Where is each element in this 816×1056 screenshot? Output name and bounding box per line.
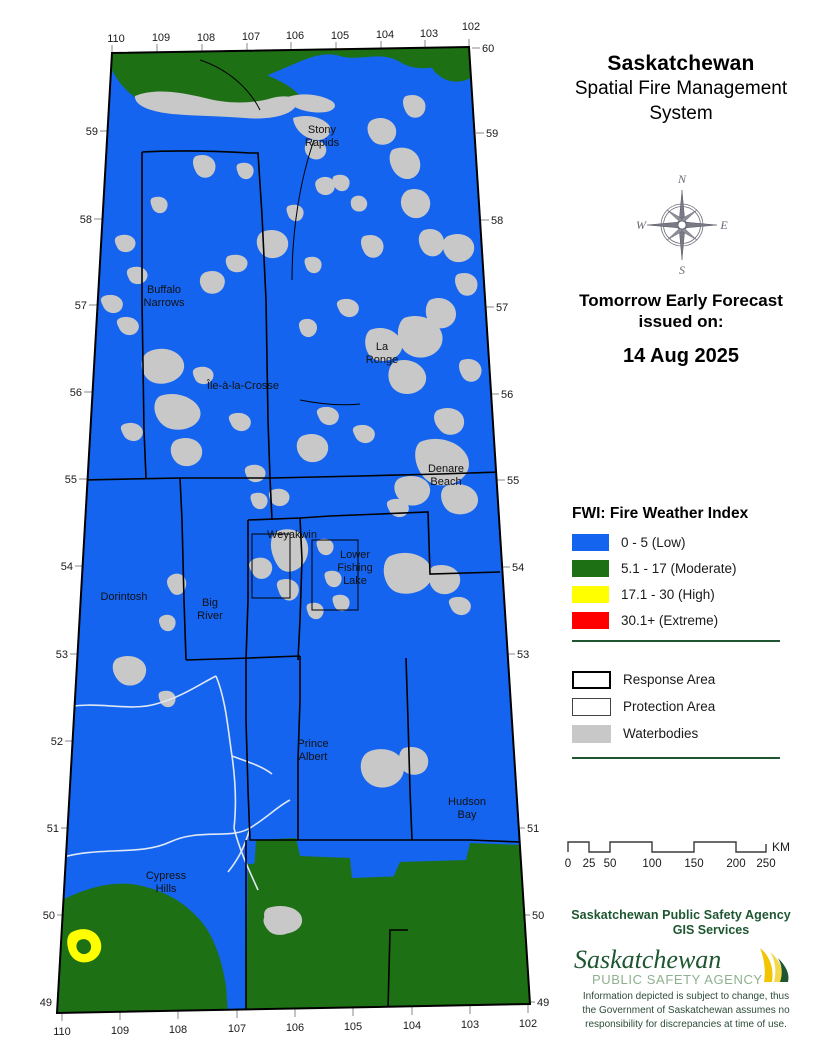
svg-text:103: 103 <box>461 1019 479 1031</box>
svg-text:Lake: Lake <box>343 575 367 587</box>
svg-text:59: 59 <box>486 128 498 140</box>
svg-text:104: 104 <box>376 29 394 41</box>
svg-text:56: 56 <box>501 389 513 401</box>
compass-east-label: E <box>719 218 728 232</box>
svg-text:58: 58 <box>80 214 92 226</box>
map-page: Stony Rapids Buffalo Narrows La Ronge Îl… <box>0 0 816 1056</box>
svg-text:River: River <box>197 610 223 622</box>
waterbodies-label: Waterbodies <box>623 726 698 741</box>
svg-text:103: 103 <box>420 28 438 40</box>
svg-text:Île-à-la-Crosse: Île-à-la-Crosse <box>206 379 279 392</box>
svg-text:104: 104 <box>403 1020 421 1032</box>
longitude-labels-top: 110 109 108 107 106 105 104 103 102 <box>107 21 480 45</box>
svg-text:57: 57 <box>496 302 508 314</box>
page-subtitle-line2: System <box>546 103 816 125</box>
svg-text:54: 54 <box>512 562 524 574</box>
svg-text:55: 55 <box>65 474 77 486</box>
logo-wheat-mark <box>760 948 789 982</box>
agency-name: Saskatchewan Public Safety Agency <box>546 908 816 922</box>
svg-text:108: 108 <box>197 32 215 44</box>
svg-text:56: 56 <box>70 387 82 399</box>
protection-area-label: Protection Area <box>623 699 715 714</box>
svg-text:Big: Big <box>202 597 218 609</box>
compass-south-label: S <box>679 263 685 277</box>
svg-text:Fishing: Fishing <box>337 562 372 574</box>
fwi-swatch-low <box>572 534 609 551</box>
scale-tick-250: 250 <box>756 858 775 870</box>
agency-credit: Saskatchewan Public Safety Agency GIS Se… <box>546 908 816 937</box>
map-canvas[interactable]: Stony Rapids Buffalo Narrows La Ronge Îl… <box>0 0 560 1056</box>
svg-text:54: 54 <box>61 561 73 573</box>
area-legend-item-waterbodies: Waterbodies <box>572 720 816 747</box>
map-legend-panel: Saskatchewan Spatial Fire Management Sys… <box>546 0 816 1056</box>
fwi-legend-item-low: 0 - 5 (Low) <box>572 530 816 554</box>
svg-text:106: 106 <box>286 1022 304 1034</box>
svg-text:60: 60 <box>482 43 494 55</box>
fwi-swatch-moderate <box>572 560 609 577</box>
disclaimer-line-3: responsibility for discrepancies at time… <box>564 1018 808 1032</box>
logo-tagline: PUBLIC SAFETY AGENCY <box>592 972 763 987</box>
longitude-labels-bottom: 110 109 108 107 106 105 104 103 102 <box>53 1018 537 1038</box>
svg-text:110: 110 <box>107 33 125 45</box>
scale-tick-200: 200 <box>726 858 745 870</box>
fwi-swatch-high <box>572 586 609 603</box>
compass-rose-icon: N E S W <box>632 168 732 278</box>
fwi-legend: FWI: Fire Weather Index 0 - 5 (Low) 5.1 … <box>572 505 816 642</box>
compass-west-label: W <box>636 218 647 232</box>
disclaimer-line-1: Information depicted is subject to chang… <box>564 990 808 1004</box>
scale-tick-0: 0 <box>565 858 571 870</box>
fwi-label-moderate: 5.1 - 17 (Moderate) <box>621 561 737 576</box>
svg-text:Bay: Bay <box>458 809 477 821</box>
saskatchewan-psa-logo: Saskatchewan PUBLIC SAFETY AGENCY <box>574 944 796 990</box>
legend-divider-2 <box>572 757 780 759</box>
svg-text:Lower: Lower <box>340 549 370 561</box>
response-area-swatch <box>572 671 611 689</box>
svg-text:59: 59 <box>86 126 98 138</box>
svg-text:Hills: Hills <box>156 883 177 895</box>
svg-text:51: 51 <box>47 823 59 835</box>
scale-tick-100: 100 <box>642 858 661 870</box>
fwi-legend-item-high: 17.1 - 30 (High) <box>572 582 816 606</box>
scale-units-label: KM <box>772 840 790 854</box>
area-legend-item-response: Response Area <box>572 666 816 693</box>
svg-text:Hudson: Hudson <box>448 796 486 808</box>
svg-text:110: 110 <box>53 1026 71 1038</box>
forecast-block: Tomorrow Early Forecast issued on: 14 Au… <box>546 290 816 368</box>
svg-text:Ronge: Ronge <box>366 354 398 366</box>
area-legend: Response Area Protection Area Waterbodie… <box>572 666 816 759</box>
svg-text:50: 50 <box>532 910 544 922</box>
forecast-date: 14 Aug 2025 <box>546 345 816 368</box>
svg-text:102: 102 <box>519 1018 537 1030</box>
protection-area-swatch <box>572 698 611 716</box>
disclaimer-line-2: the Government of Saskatchewan assumes n… <box>564 1004 808 1018</box>
svg-text:Rapids: Rapids <box>305 137 340 149</box>
svg-text:107: 107 <box>242 31 260 43</box>
svg-text:105: 105 <box>344 1021 362 1033</box>
forecast-heading-line2: issued on: <box>546 311 816 332</box>
svg-text:La: La <box>376 341 389 353</box>
area-legend-item-protection: Protection Area <box>572 693 816 720</box>
disclaimer-text: Information depicted is subject to chang… <box>564 990 808 1033</box>
svg-text:Narrows: Narrows <box>144 297 185 309</box>
svg-text:Weyakwin: Weyakwin <box>267 529 317 541</box>
svg-text:109: 109 <box>152 32 170 44</box>
svg-text:Beach: Beach <box>430 476 461 488</box>
fwi-swatch-extreme <box>572 612 609 629</box>
svg-text:Denare: Denare <box>428 463 464 475</box>
fwi-legend-title: FWI: Fire Weather Index <box>572 505 816 523</box>
svg-text:107: 107 <box>228 1023 246 1035</box>
page-subtitle-line1: Spatial Fire Management <box>546 78 816 100</box>
svg-text:53: 53 <box>56 649 68 661</box>
fwi-label-extreme: 30.1+ (Extreme) <box>621 613 718 628</box>
page-title: Saskatchewan <box>546 52 816 76</box>
svg-text:57: 57 <box>75 300 87 312</box>
fwi-legend-item-moderate: 5.1 - 17 (Moderate) <box>572 556 816 580</box>
fwi-label-low: 0 - 5 (Low) <box>621 535 686 550</box>
svg-text:Stony: Stony <box>308 124 337 136</box>
svg-text:Cypress: Cypress <box>146 870 187 882</box>
svg-text:108: 108 <box>169 1024 187 1036</box>
svg-text:58: 58 <box>491 215 503 227</box>
scale-tick-25: 25 <box>583 858 596 870</box>
svg-text:53: 53 <box>517 649 529 661</box>
svg-text:51: 51 <box>527 823 539 835</box>
svg-text:52: 52 <box>51 736 63 748</box>
fwi-legend-item-extreme: 30.1+ (Extreme) <box>572 608 816 632</box>
waterbodies-swatch <box>572 725 611 743</box>
svg-text:105: 105 <box>331 30 349 42</box>
legend-divider-1 <box>572 640 780 642</box>
svg-text:102: 102 <box>462 21 480 33</box>
svg-text:55: 55 <box>507 475 519 487</box>
compass-north-label: N <box>677 172 687 186</box>
svg-text:Buffalo: Buffalo <box>147 284 181 296</box>
scale-bar: KM 0 25 50 100 150 200 250 <box>564 836 816 861</box>
forecast-heading-line1: Tomorrow Early Forecast <box>546 290 816 311</box>
svg-text:106: 106 <box>286 30 304 42</box>
svg-text:50: 50 <box>43 910 55 922</box>
scale-tick-150: 150 <box>684 858 703 870</box>
svg-text:Dorintosh: Dorintosh <box>100 591 147 603</box>
svg-text:49: 49 <box>40 997 52 1009</box>
logo-wordmark: Saskatchewan <box>574 945 721 974</box>
map-title-block: Saskatchewan Spatial Fire Management Sys… <box>546 52 816 125</box>
agency-division: GIS Services <box>546 923 816 937</box>
svg-text:Albert: Albert <box>299 751 328 763</box>
fwi-label-high: 17.1 - 30 (High) <box>621 587 715 602</box>
svg-text:Prince: Prince <box>297 738 328 750</box>
response-area-label: Response Area <box>623 672 715 687</box>
scale-tick-50: 50 <box>604 858 617 870</box>
svg-text:109: 109 <box>111 1025 129 1037</box>
